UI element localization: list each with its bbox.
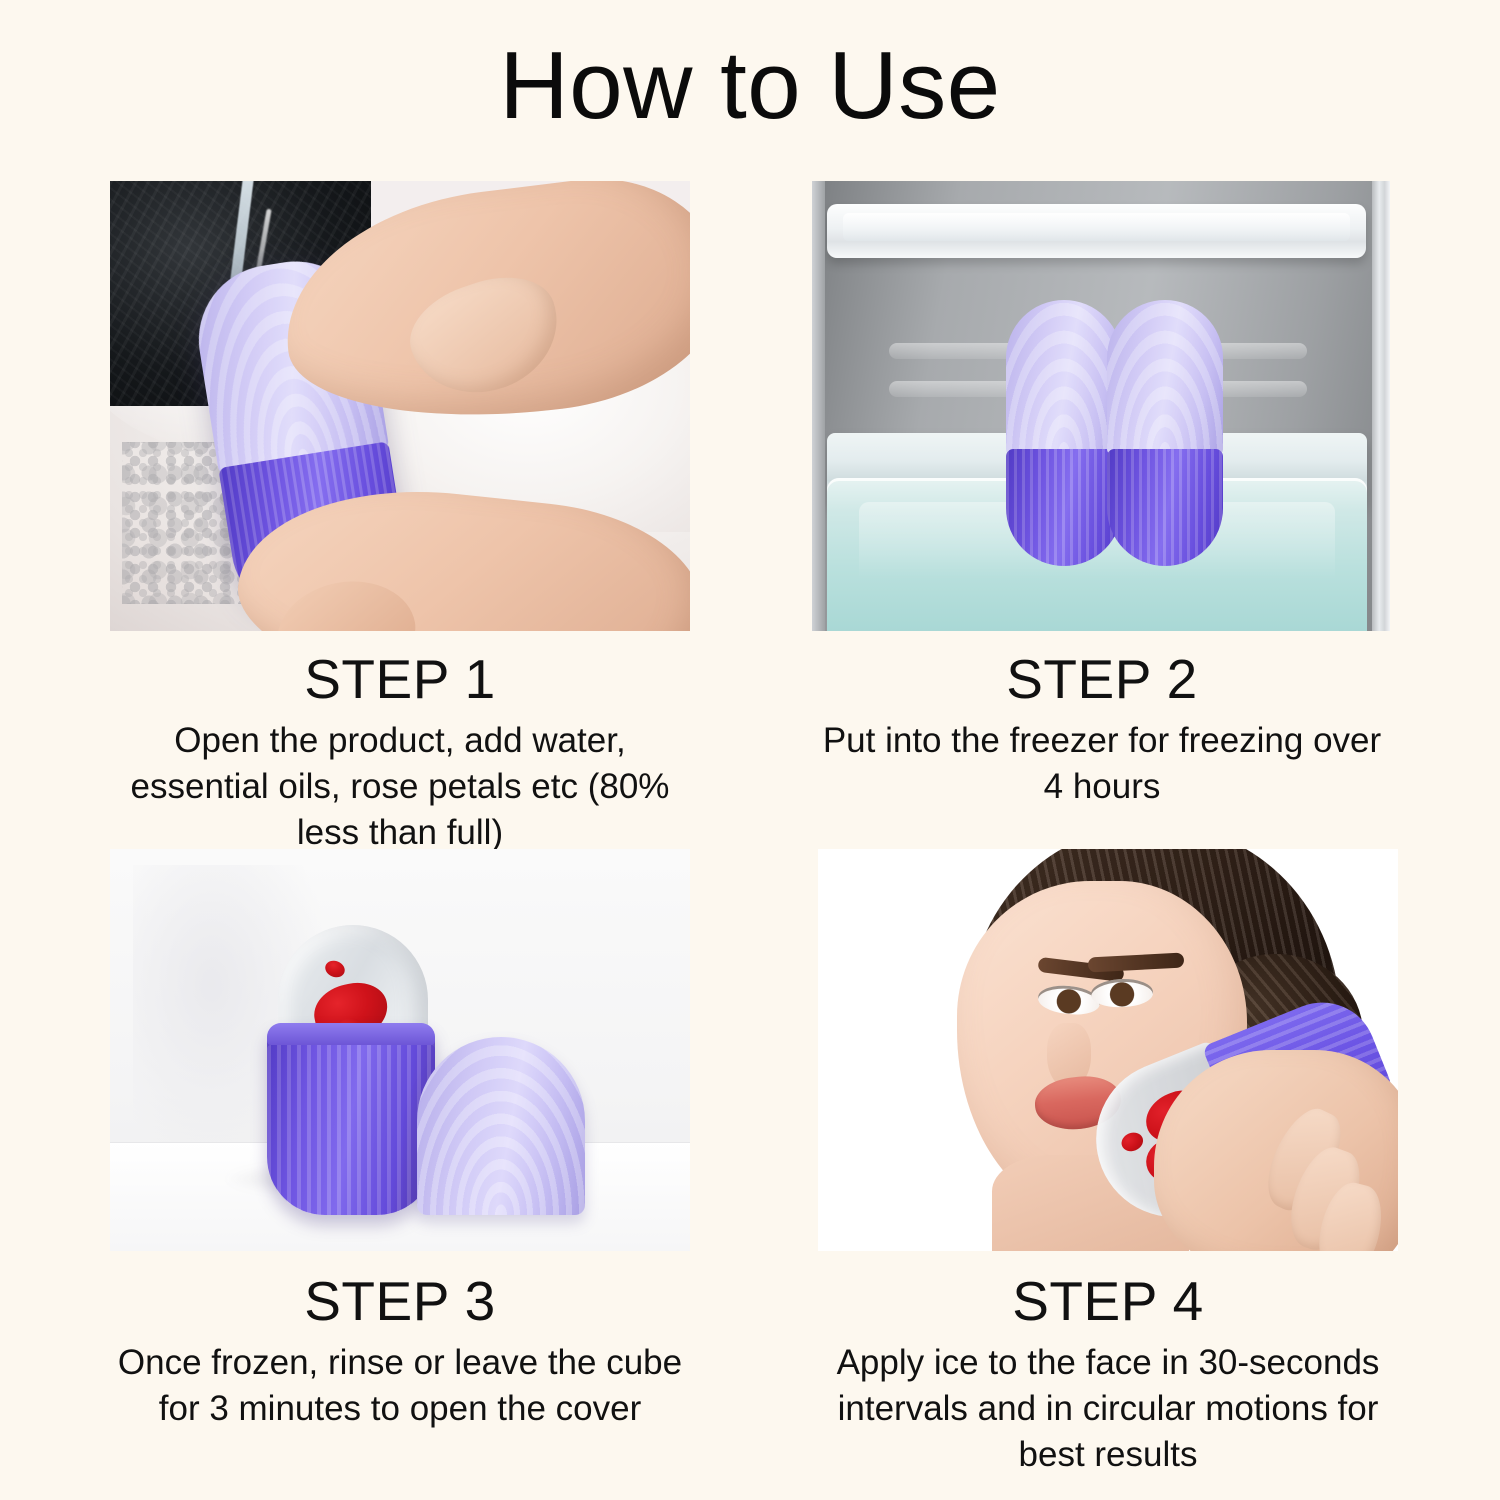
step-3-heading: STEP 3 [110, 1269, 690, 1334]
step-2-body: Put into the freezer for freezing over 4… [812, 718, 1392, 810]
step-card-4: STEP 4 Apply ice to the face in 30-secon… [818, 849, 1398, 1478]
model-hand [1154, 1050, 1398, 1251]
step-1-heading: STEP 1 [110, 647, 690, 712]
roller-cap-detached [417, 1037, 585, 1215]
how-to-use-infographic: How to Use [0, 0, 1500, 1500]
steps-grid: STEP 1 Open the product, add water, esse… [110, 181, 1390, 1471]
roller-base [1107, 449, 1223, 566]
step-2-caption: STEP 2 Put into the freezer for freezing… [812, 647, 1392, 810]
step-3-body: Once frozen, rinse or leave the cube for… [110, 1340, 690, 1432]
step-4-body: Apply ice to the face in 30-seconds inte… [818, 1340, 1398, 1479]
rose-petal [1118, 1129, 1145, 1154]
fridge-scene [812, 181, 1390, 631]
step-1-image [110, 181, 690, 631]
roller-base [1006, 449, 1122, 566]
sink-scene [110, 181, 690, 631]
step-card-3: STEP 3 Once frozen, rinse or leave the c… [110, 849, 690, 1432]
studio-scene [110, 849, 690, 1251]
fridge-frame-left [812, 181, 825, 631]
step-card-2: STEP 2 Put into the freezer for freezing… [812, 181, 1392, 810]
step-1-body: Open the product, add water, essential o… [110, 718, 690, 857]
step-2-image [812, 181, 1390, 631]
roller-base-open [267, 1023, 435, 1215]
model-eye-left [1037, 983, 1102, 1017]
ice-roller-right [1107, 300, 1223, 566]
step-3-image [110, 849, 690, 1251]
roller-cap [1006, 300, 1122, 454]
step-4-image [818, 849, 1398, 1251]
step-4-caption: STEP 4 Apply ice to the face in 30-secon… [818, 1269, 1398, 1478]
model-eye-right [1090, 978, 1153, 1008]
model-eyebrow-right [1087, 953, 1184, 973]
fridge-frame-right [1372, 181, 1390, 631]
step-4-heading: STEP 4 [818, 1269, 1398, 1334]
rose-petal [322, 958, 347, 980]
step-card-1: STEP 1 Open the product, add water, esse… [110, 181, 690, 856]
step-2-heading: STEP 2 [812, 647, 1392, 712]
page-title: How to Use [0, 34, 1500, 138]
hand-upper-fingers [398, 261, 575, 412]
step-3-caption: STEP 3 Once frozen, rinse or leave the c… [110, 1269, 690, 1432]
ice-roller-left [1006, 300, 1122, 566]
step-1-caption: STEP 1 Open the product, add water, esse… [110, 647, 690, 856]
roller-cap [1107, 300, 1223, 454]
hand-lower-fingers [268, 571, 422, 631]
model-scene [818, 849, 1398, 1251]
fridge-upper-shelf [827, 204, 1366, 258]
